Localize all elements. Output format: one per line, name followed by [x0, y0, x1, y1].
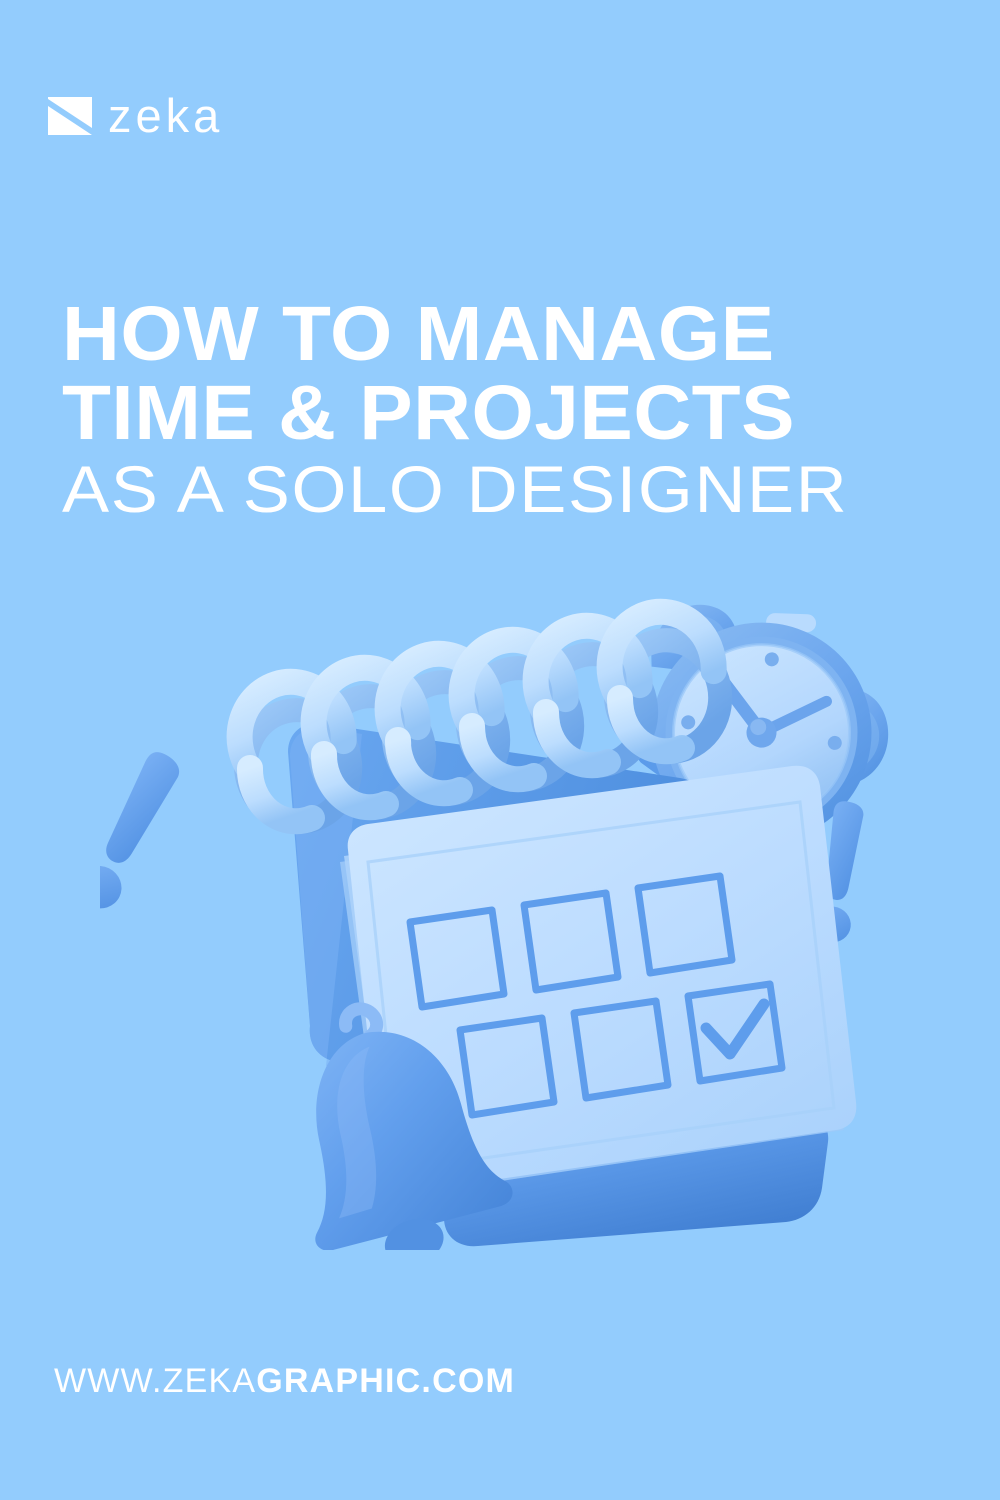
brand-logo[interactable]: zeka	[48, 92, 223, 139]
title-line-2: TIME & PROJECTS	[62, 377, 977, 450]
hero-illustration	[100, 570, 920, 1250]
pinterest-pin-poster: zeka HOW TO MANAGE TIME & PROJECTS AS A …	[0, 0, 1000, 1500]
title-line-3: AS A SOLO DESIGNER	[62, 458, 1000, 521]
title-line-1: HOW TO MANAGE	[62, 298, 977, 371]
calendar-clock-bell-svg	[100, 570, 920, 1250]
zeka-logo-mark-icon	[48, 97, 92, 135]
exclamation-mark-left-large	[100, 744, 184, 915]
footer-url-bold: GRAPHIC.COM	[256, 1362, 515, 1400]
footer-website-url[interactable]: WWW.ZEKAGRAPHIC.COM	[54, 1362, 515, 1401]
page-title: HOW TO MANAGE TIME & PROJECTS AS A SOLO …	[62, 298, 942, 521]
footer-url-light: WWW.ZEKA	[54, 1362, 256, 1400]
brand-wordmark: zeka	[108, 92, 223, 139]
